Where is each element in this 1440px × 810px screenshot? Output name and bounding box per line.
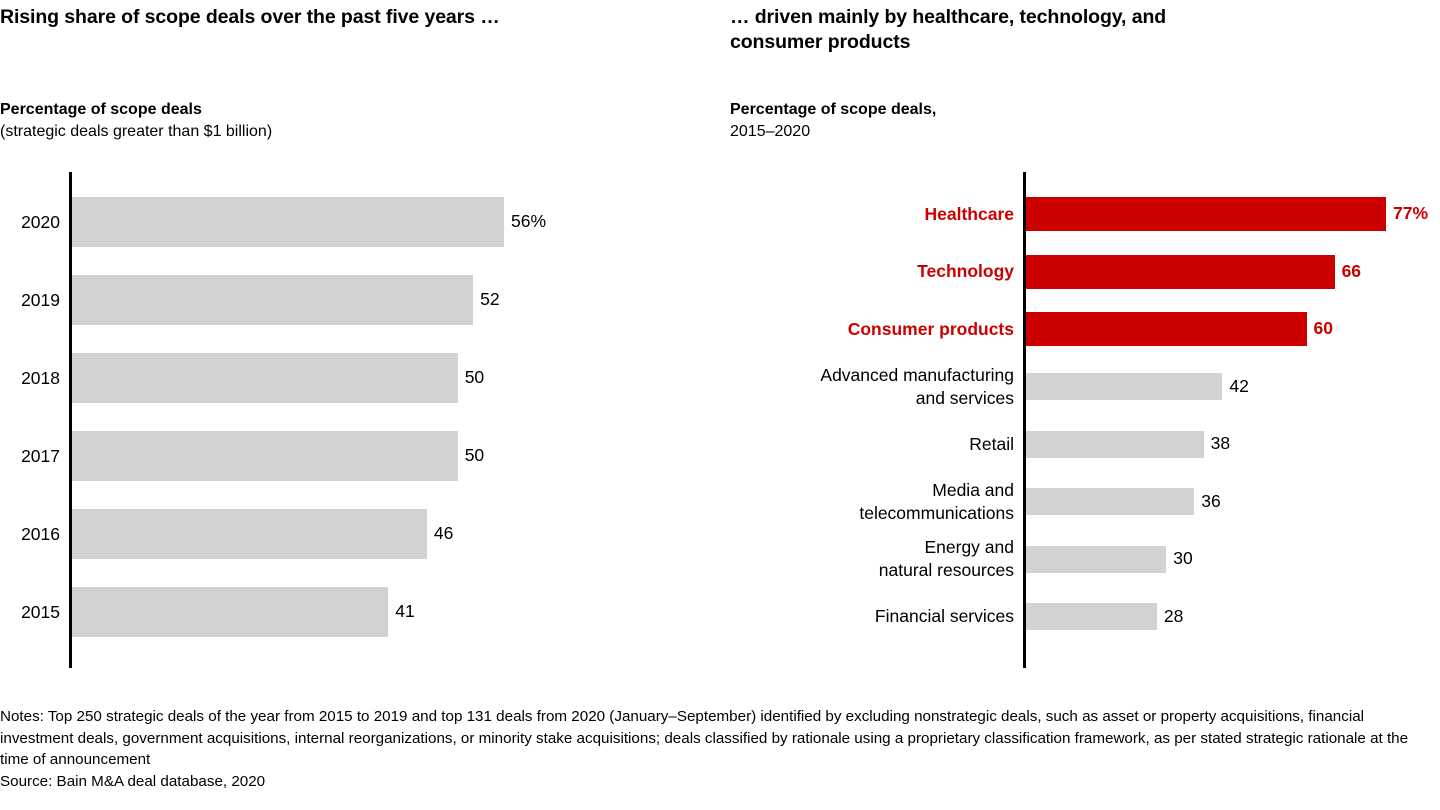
left-panel: Rising share of scope deals over the pas… <box>0 0 720 690</box>
category-label: Advanced manufacturing and services <box>730 364 1014 410</box>
category-label: 2017 <box>0 446 60 467</box>
category-label: 2019 <box>0 290 60 311</box>
bar <box>1026 197 1386 231</box>
bar <box>1026 546 1166 573</box>
value-label: 60 <box>1314 320 1333 338</box>
right-chart-axis <box>1023 172 1026 668</box>
bar <box>72 275 473 325</box>
footnote-notes: Notes: Top 250 strategic deals of the ye… <box>0 706 1440 771</box>
bar <box>72 431 458 481</box>
value-label: 50 <box>465 447 484 465</box>
value-label: 38 <box>1211 435 1230 453</box>
right-subhead-bold: Percentage of scope deals, <box>730 99 936 121</box>
footnotes: Notes: Top 250 strategic deals of the ye… <box>0 706 1440 792</box>
bar <box>72 197 504 247</box>
value-label: 77% <box>1393 205 1428 223</box>
bar <box>72 587 388 637</box>
value-label: 42 <box>1229 378 1248 396</box>
category-label: 2015 <box>0 602 60 623</box>
bar <box>72 509 427 559</box>
value-label: 66 <box>1342 263 1361 281</box>
category-label: 2018 <box>0 368 60 389</box>
bar <box>1026 431 1204 458</box>
bar <box>1026 488 1194 515</box>
chart-page: Rising share of scope deals over the pas… <box>0 0 1440 810</box>
value-label: 41 <box>395 603 414 621</box>
category-label: 2020 <box>0 212 60 233</box>
footnote-source: Source: Bain M&A deal database, 2020 <box>0 771 1440 793</box>
category-label: Retail <box>730 433 1014 456</box>
left-subhead: Percentage of scope deals (strategic dea… <box>0 99 272 143</box>
category-label: Consumer products <box>730 318 1014 341</box>
value-label: 50 <box>465 369 484 387</box>
category-label: Financial services <box>730 605 1014 628</box>
right-subhead: Percentage of scope deals, 2015–2020 <box>730 99 936 143</box>
left-subhead-bold: Percentage of scope deals <box>0 99 272 121</box>
value-label: 36 <box>1201 493 1220 511</box>
bar <box>1026 603 1157 630</box>
value-label: 46 <box>434 525 453 543</box>
category-label: 2016 <box>0 524 60 545</box>
bar <box>72 353 458 403</box>
category-label: Technology <box>730 260 1014 283</box>
left-bar-chart: 202056%201952201850201750201646201541 <box>0 172 720 672</box>
bar <box>1026 255 1335 289</box>
value-label: 30 <box>1173 550 1192 568</box>
right-subhead-normal: 2015–2020 <box>730 121 936 143</box>
category-label: Energy and natural resources <box>730 536 1014 582</box>
left-headline: Rising share of scope deals over the pas… <box>0 5 500 30</box>
value-label: 52 <box>480 291 499 309</box>
left-subhead-normal: (strategic deals greater than $1 billion… <box>0 121 272 143</box>
category-label: Media and telecommunications <box>730 479 1014 525</box>
right-headline: … driven mainly by healthcare, technolog… <box>730 5 1230 55</box>
value-label: 56% <box>511 213 546 231</box>
value-label: 28 <box>1164 608 1183 626</box>
category-label: Healthcare <box>730 203 1014 226</box>
bar <box>1026 373 1222 400</box>
bar <box>1026 312 1307 346</box>
right-panel: … driven mainly by healthcare, technolog… <box>730 0 1440 690</box>
right-bar-chart: Healthcare77%Technology66Consumer produc… <box>730 172 1440 672</box>
